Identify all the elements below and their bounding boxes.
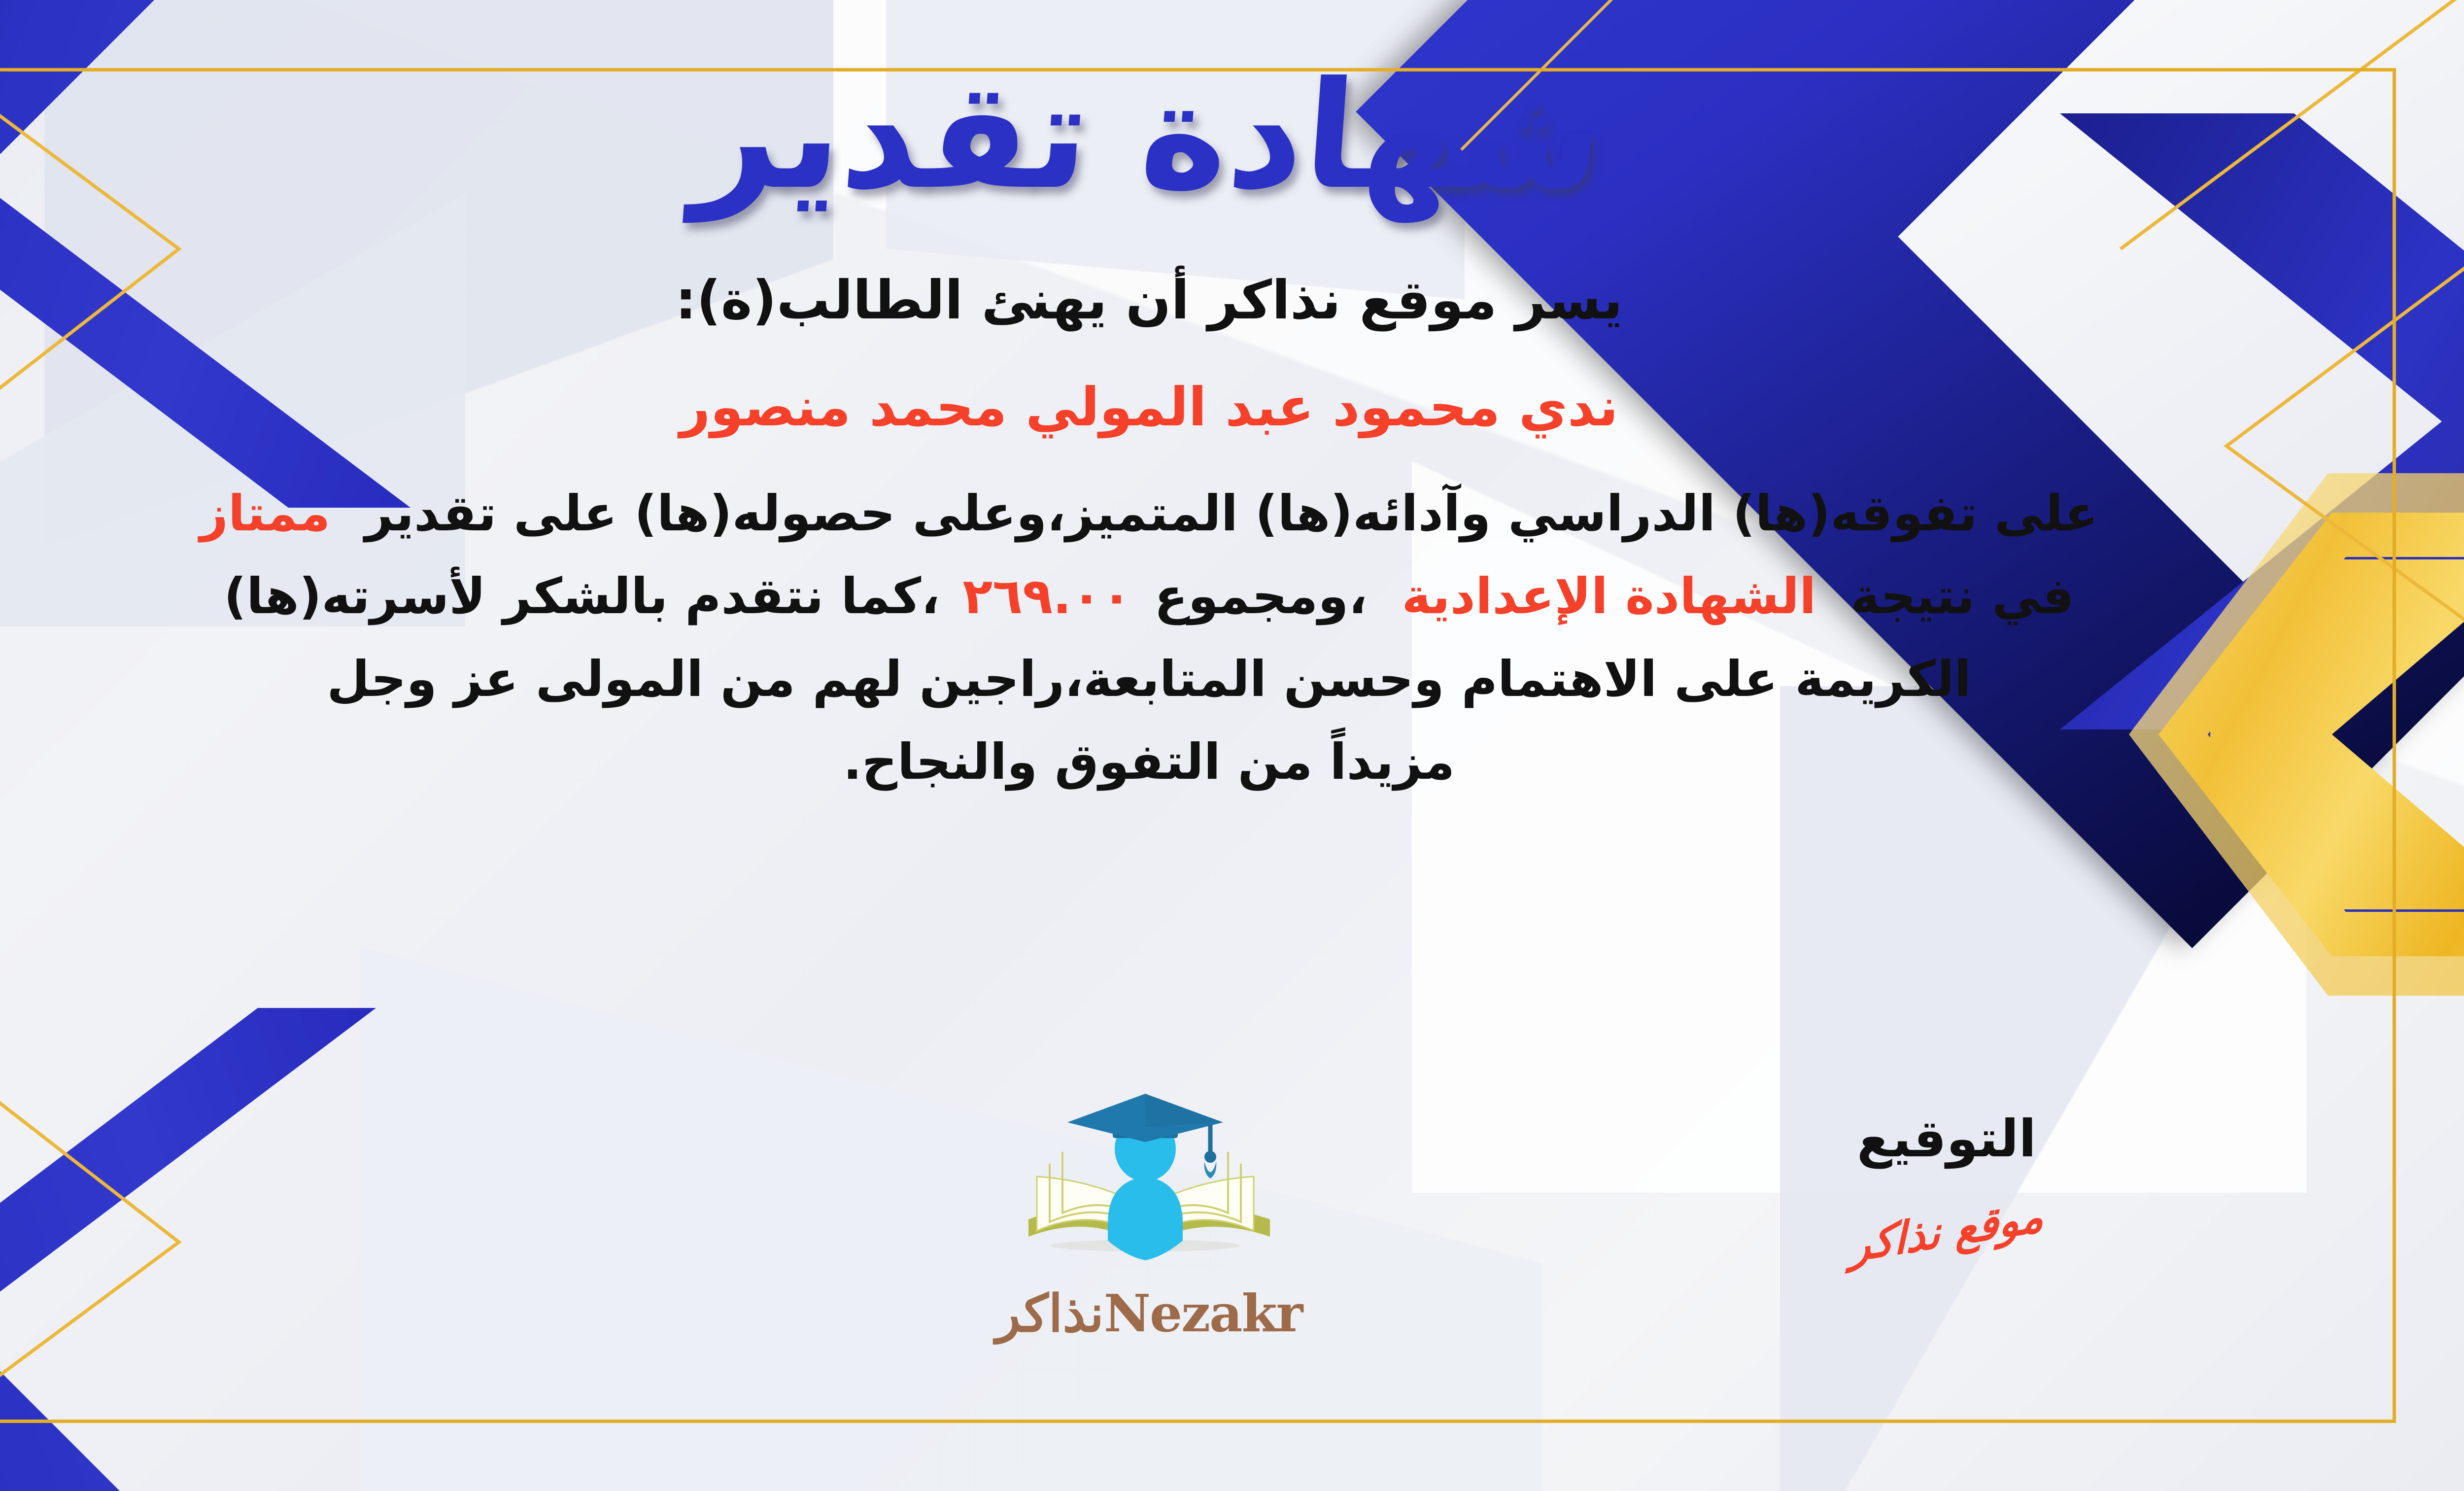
grade-value: ممتاز — [200, 485, 330, 542]
brand-logo: Nezakrنذاكر — [962, 1089, 1336, 1344]
family-thanks-line: الكريمة على الاهتمام وحسن المتابعة،راجين… — [26, 639, 2273, 719]
total-score: ٢٦٩.٠٠ — [962, 567, 1131, 625]
graduate-book-icon — [1011, 1089, 1287, 1296]
signature-mark: موقع نذاكر — [1849, 1189, 2044, 1272]
achievement-line: على تفوقه(ها) الدراسي وآدائه(ها) المتميز… — [26, 474, 2273, 554]
total-label: ،ومجموع — [1154, 567, 1367, 625]
achievement-text: على تفوقه(ها) الدراسي وآدائه(ها) المتميز… — [365, 485, 2098, 542]
signature-label: التوقيع — [1794, 1109, 2099, 1169]
congratulation-line: يسر موقع نذاكر أن يهنئ الطالب(ة): — [26, 258, 2273, 344]
certificate-footer: التوقيع موقع نذاكر — [0, 1089, 2464, 1404]
exam-prefix: في نتيجة — [1850, 567, 2074, 625]
certificate-body: يسر موقع نذاكر أن يهنئ الطالب(ة): ندي مح… — [26, 258, 2273, 802]
certificate-canvas: شهادة تقدير يسر موقع نذاكر أن يهنئ الطال… — [0, 0, 2464, 1491]
signature-block: التوقيع موقع نذاكر — [1794, 1109, 2099, 1256]
certificate-content: شهادة تقدير يسر موقع نذاكر أن يهنئ الطال… — [0, 0, 2464, 1491]
page-title: شهادة تقدير — [689, 58, 1608, 213]
exam-result-line: في نتيجةالشهادة الإعدادية،ومجموع٢٦٩.٠٠،ك… — [26, 556, 2273, 636]
exam-name: الشهادة الإعدادية — [1402, 567, 1816, 625]
closing-line: مزيداً من التفوق والنجاح. — [26, 722, 2273, 802]
thanks-text: ،كما نتقدم بالشكر لأسرته(ها) — [224, 567, 940, 625]
student-name: ندي محمود عبد المولي محمد منصور — [26, 365, 2273, 451]
